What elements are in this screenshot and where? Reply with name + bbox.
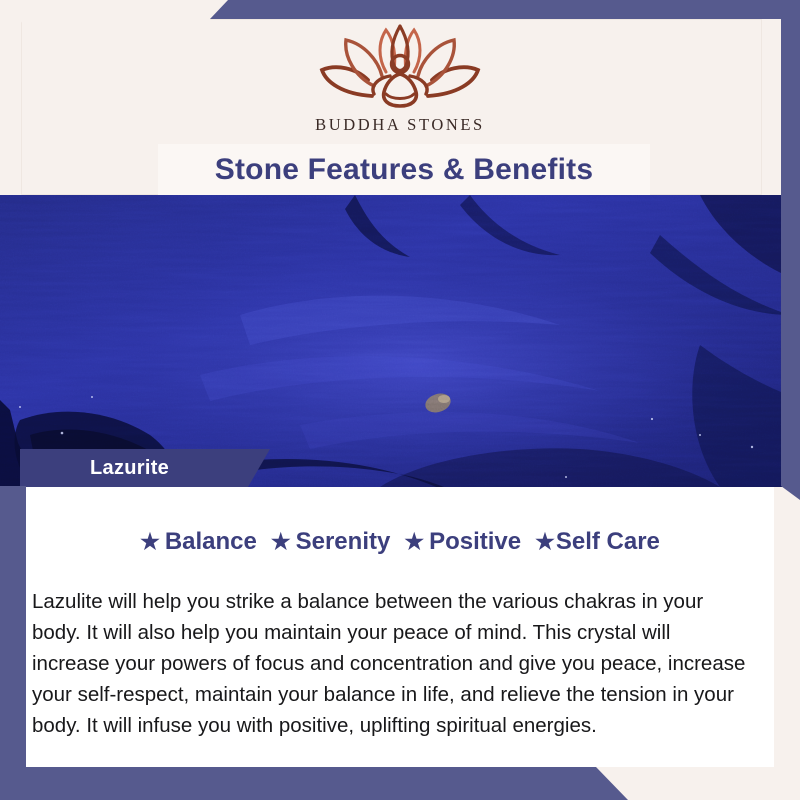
benefit-item-positive: ★ Positive [404,528,521,556]
page-title: Stone Features & Benefits [215,153,593,187]
star-icon: ★ [404,531,424,553]
benefit-label: Positive [429,528,521,556]
benefit-label: Self Care [556,528,660,556]
star-icon: ★ [535,531,555,553]
lazurite-stone-image [0,195,800,487]
frame-band-bottom-right-cut [0,0,210,33]
frame-band-left [0,486,26,800]
stone-photo [0,195,800,487]
stone-name: Lazurite [90,457,169,480]
title-plaque: Stone Features & Benefits [158,144,650,196]
benefit-label: Balance [165,528,257,556]
benefit-item-balance: ★ Balance [140,528,257,556]
benefit-item-serenity: ★ Serenity [271,528,390,556]
benefit-label: Serenity [296,528,391,556]
stone-description: Lazulite will help you strike a balance … [32,586,746,741]
lotus-meditation-figure-icon [312,20,488,112]
benefit-item-self-care: ★ Self Care [535,528,660,556]
frame-band-right [781,0,800,500]
frame-band-bottom [0,767,800,800]
brand-name: BUDDHA STONES [0,115,800,135]
benefits-row: ★ Balance ★ Serenity ★ Positive ★ Self C… [26,528,774,556]
brand-logo: BUDDHA STONES [0,20,800,135]
promo-poster: BUDDHA STONES Stone Features & Benefits [0,0,800,800]
star-icon: ★ [271,531,291,553]
star-icon: ★ [140,531,160,553]
stone-name-tag: Lazurite [20,449,270,487]
